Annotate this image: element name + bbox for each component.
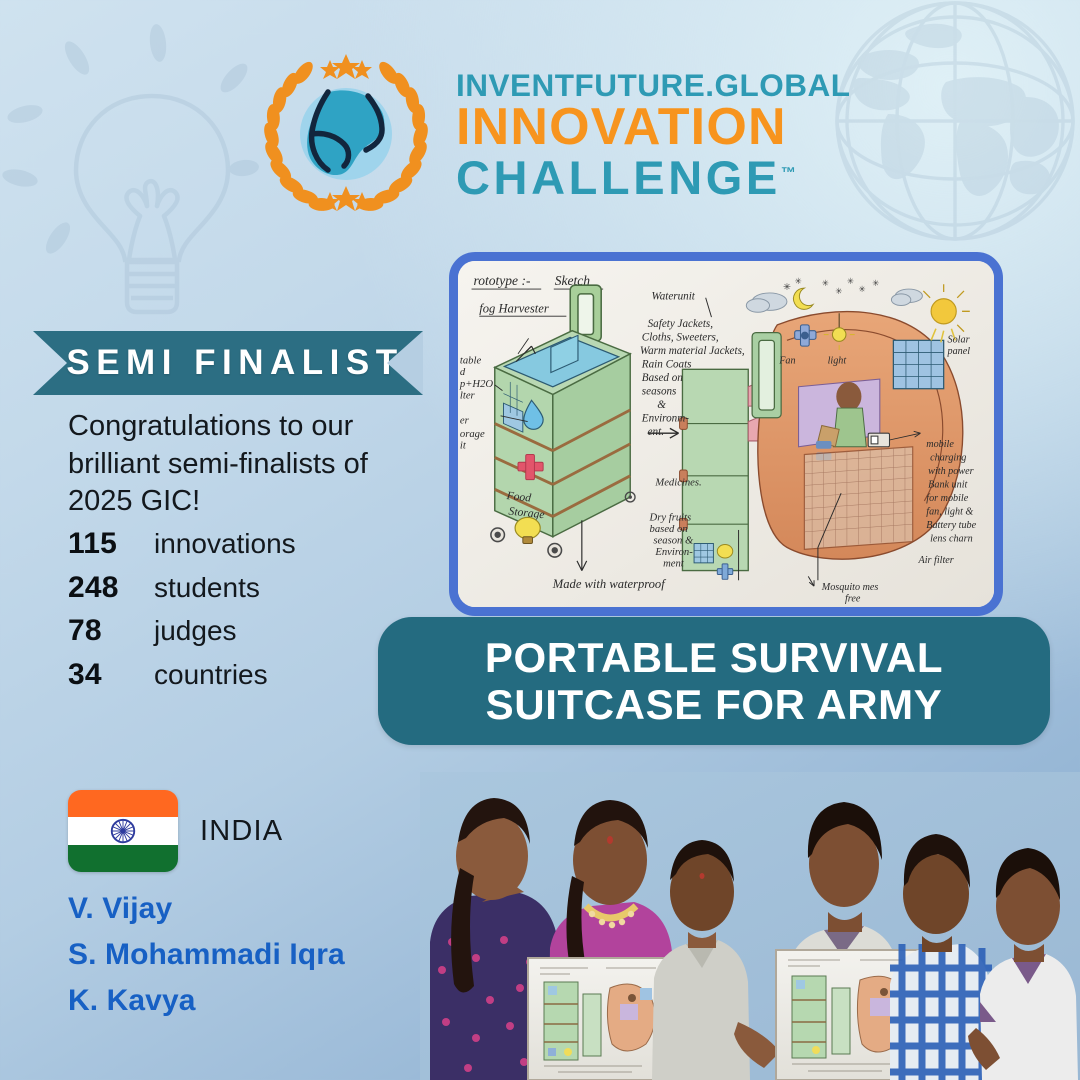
svg-text:it: it [460,441,467,452]
svg-text:✳: ✳ [835,286,843,296]
brand-logo: INVENTFUTURE.GLOBAL INNOVATION CHALLENGE… [258,46,850,222]
country-row: INDIA [68,790,283,872]
svg-text:Fan: Fan [778,356,795,367]
svg-text:Dry fruits: Dry fruits [649,512,692,523]
stat-number: 248 [68,571,154,605]
trademark-symbol: ™ [781,165,796,182]
svg-text:seasons: seasons [642,386,677,398]
stat-number: 34 [68,658,154,692]
svg-text:table: table [460,356,482,367]
svg-text:lter: lter [460,390,476,401]
svg-text:orage: orage [460,429,485,440]
logo-line-innovation: INNOVATION [456,101,850,153]
project-title-line-2: SUITCASE FOR ARMY [486,681,943,728]
svg-text:✳: ✳ [872,278,880,288]
ribbon-right-notch [387,331,423,395]
ashoka-chakra-icon [111,819,136,844]
svg-text:Rain Coats: Rain Coats [641,358,692,370]
project-title-line-1: PORTABLE SURVIVAL [485,634,943,681]
logo-challenge-text: CHALLENGE [456,151,781,204]
stat-row-countries: 34 countries [68,658,296,702]
stat-label: innovations [154,528,296,560]
svg-text:d: d [460,367,466,378]
svg-text:charging: charging [930,452,966,463]
svg-text:Mosquito mes: Mosquito mes [821,582,879,593]
stat-label: countries [154,659,268,691]
stat-label: students [154,572,260,604]
svg-text:✳: ✳ [783,282,791,293]
svg-text:Environm-: Environm- [641,413,689,425]
ribbon-label: SEMI FINALIST [52,343,403,383]
india-flag-icon [68,790,178,872]
country-label: INDIA [200,815,283,848]
svg-text:panel: panel [947,346,971,357]
stat-number: 115 [68,527,154,561]
svg-text:ent.: ent. [648,426,664,438]
student-team-photo [420,772,1080,1080]
svg-text:lens charn: lens charn [930,534,973,545]
svg-text:for mobile: for mobile [926,493,968,504]
svg-text:Solar: Solar [948,334,970,345]
svg-text:Warm material Jackets,: Warm material Jackets, [640,345,745,357]
svg-text:with power: with power [928,466,973,477]
laurel-globe-emblem-icon [258,46,434,222]
svg-text:er: er [460,416,470,427]
stat-row-judges: 78 judges [68,614,296,658]
flag-band-saffron [68,790,178,817]
stat-row-innovations: 115 innovations [68,527,296,571]
flag-band-green [68,845,178,872]
svg-text:fog Harvester: fog Harvester [479,301,549,315]
svg-text:Based on: Based on [642,372,683,384]
svg-text:✳: ✳ [859,284,867,294]
svg-text:mobile: mobile [926,439,954,450]
svg-text:Food: Food [505,489,532,505]
svg-text:Cloths, Sweeters,: Cloths, Sweeters, [642,331,719,343]
team-member-name: V. Vijay [68,886,345,932]
svg-text:Waterunit: Waterunit [651,291,695,303]
svg-text:Battery tube: Battery tube [926,520,976,531]
svg-text:Environ-: Environ- [654,547,693,558]
stats-list: 115 innovations 248 students 78 judges 3… [68,527,296,701]
svg-text:p+H2O: p+H2O [459,379,493,390]
svg-text:&: & [657,399,666,411]
stat-row-students: 248 students [68,571,296,615]
svg-text:rototype :-: rototype :- [473,273,530,288]
team-member-name: K. Kavya [68,978,345,1024]
svg-text:✳: ✳ [847,276,855,286]
svg-text:free: free [845,594,861,605]
svg-text:fan, light &: fan, light & [926,506,973,517]
svg-text:Bank unit: Bank unit [928,479,968,490]
svg-text:Air filter: Air filter [918,555,954,566]
svg-text:ment: ment [663,559,685,570]
team-member-name: S. Mohammadi Iqra [68,932,345,978]
logo-line-inventfuture: INVENTFUTURE.GLOBAL [456,69,850,101]
svg-text:Medicines.: Medicines. [654,477,701,488]
svg-text:season &: season & [653,536,694,547]
congratulations-text: Congratulations to our brilliant semi-fi… [68,408,388,521]
logo-line-challenge: CHALLENGE™ [456,153,850,203]
svg-text:✳: ✳ [822,278,830,288]
stat-number: 78 [68,614,154,648]
svg-text:✳: ✳ [795,276,803,286]
svg-text:based on: based on [650,524,688,535]
team-names-list: V. Vijay S. Mohammadi Iqra K. Kavya [68,886,345,1024]
stat-label: judges [154,615,237,647]
project-title-card: PORTABLE SURVIVAL SUITCASE FOR ARMY [378,617,1050,745]
svg-text:Made with waterproof: Made with waterproof [552,577,666,591]
prototype-sketch-photo: rototype :- Sketch fog Harvester [449,252,1003,616]
semi-finalist-ribbon: SEMI FINALIST [33,331,423,395]
globe-watermark [820,0,1080,256]
svg-text:light: light [828,356,848,367]
logo-wordmark: INVENTFUTURE.GLOBAL INNOVATION CHALLENGE… [456,65,850,203]
svg-text:Safety Jackets,: Safety Jackets, [648,318,714,330]
